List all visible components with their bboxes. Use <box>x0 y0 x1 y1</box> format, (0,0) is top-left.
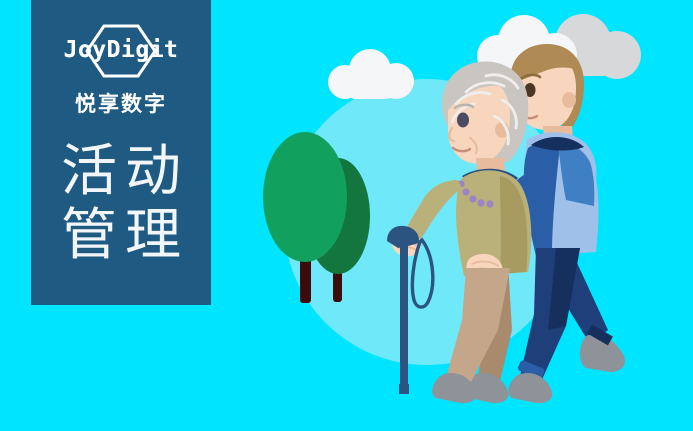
brand-panel: JoyDigit 悦享数字 活动 管理 <box>31 0 211 305</box>
sub-brand-text: 悦享数字 <box>75 88 167 118</box>
woman-eye <box>457 113 469 128</box>
page-title-line-1: 活动 <box>53 140 189 204</box>
man-ear <box>562 92 576 108</box>
page-title-line-2: 管理 <box>53 204 189 268</box>
poster-canvas: JoyDigit 悦享数字 活动 管理 <box>0 0 693 431</box>
logo-wordmark: JoyDigit <box>51 37 191 63</box>
cane-tip <box>399 384 409 394</box>
page-title: 活动 管理 <box>53 140 189 268</box>
logo-lockup: JoyDigit <box>51 26 191 76</box>
